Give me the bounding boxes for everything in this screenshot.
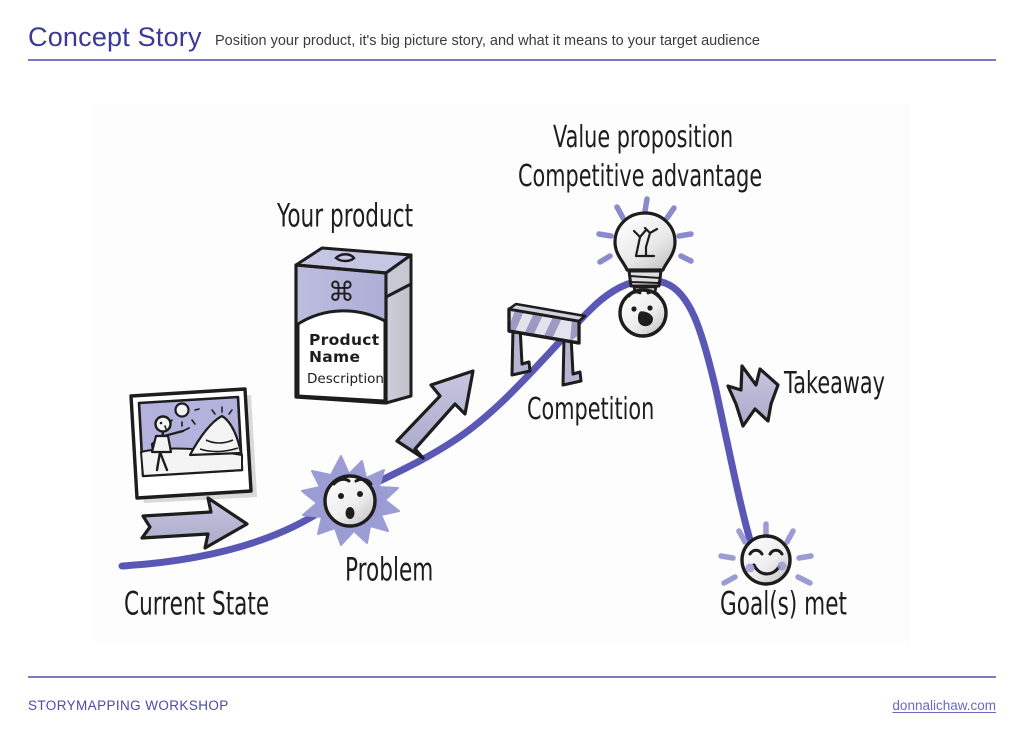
label-competitive-advantage: Competitive advantage — [518, 159, 823, 189]
label-value-proposition: Value proposition — [553, 120, 778, 150]
label-your-product: Your product — [277, 198, 447, 229]
label-competition: Competition — [527, 392, 686, 422]
product-description: Description — [307, 371, 384, 387]
label-problem: Problem — [345, 552, 455, 583]
page-subtitle: Position your product, it's big picture … — [215, 33, 760, 49]
footer-divider — [28, 676, 996, 678]
header-divider — [28, 59, 996, 61]
page-footer: STORYMAPPING WORKSHOP donnalichaw.com — [0, 676, 1024, 752]
footer-website-link[interactable]: donnalichaw.com — [892, 698, 996, 713]
footer-workshop-label: STORYMAPPING WORKSHOP — [28, 698, 229, 713]
label-takeaway: Takeaway — [784, 366, 910, 396]
page-title: Concept Story — [28, 22, 202, 53]
command-glyph-icon: ⌘ — [328, 277, 355, 308]
page-header: Concept Story Position your product, it'… — [0, 0, 1024, 62]
product-name-line-1: Product — [309, 331, 379, 349]
product-name-line-2: Name — [309, 348, 360, 366]
label-goals-met: Goal(s) met — [720, 586, 879, 617]
label-current-state: Current State — [124, 586, 305, 617]
